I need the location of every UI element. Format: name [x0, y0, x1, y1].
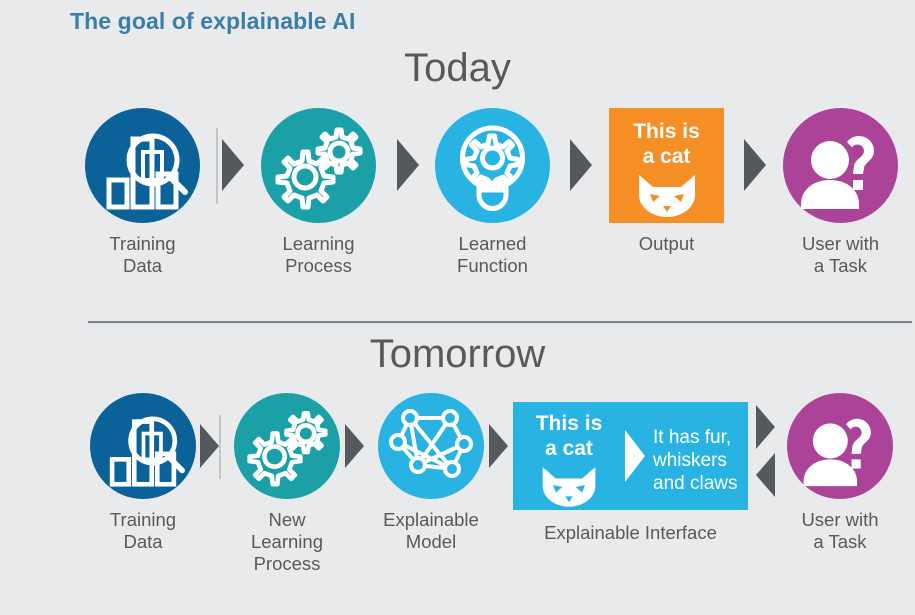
- node-user-task-tomorrow[interactable]: User with a Task: [787, 393, 893, 553]
- node-explainable-interface[interactable]: This is a cat It has: [513, 402, 748, 544]
- training-data-circle: [85, 108, 200, 223]
- section-divider: [88, 321, 912, 323]
- node-caption: Learning Process: [261, 233, 376, 277]
- user-task-circle: [787, 393, 893, 499]
- node-learning-process-today[interactable]: Learning Process: [261, 108, 376, 277]
- bar-chart-magnifier-icon: [90, 393, 196, 499]
- node-caption: Training Data: [90, 509, 196, 553]
- node-caption: Explainable Interface: [513, 522, 748, 544]
- interface-inner-arrow-icon: [625, 430, 645, 482]
- cat-face-icon: [633, 171, 701, 219]
- divider-line-2: [219, 415, 221, 479]
- user-task-circle: [783, 108, 898, 223]
- flow-arrow-8-back: [756, 453, 775, 497]
- flow-arrow-6: [345, 424, 364, 468]
- output-panel: This is a cat: [609, 108, 724, 223]
- tomorrow-row: Training Data New Learning Process: [0, 393, 915, 593]
- node-user-task-today[interactable]: User with a Task: [783, 108, 898, 277]
- node-caption: New Learning Process: [234, 509, 340, 575]
- node-explainable-model[interactable]: Explainable Model: [378, 393, 484, 553]
- user-question-icon: [783, 108, 898, 223]
- user-question-icon: [787, 393, 893, 499]
- node-caption: Training Data: [85, 233, 200, 277]
- flow-arrow-1: [222, 139, 244, 191]
- flow-arrow-2: [397, 139, 419, 191]
- divider-line-1: [216, 128, 218, 204]
- flow-arrow-3: [570, 139, 592, 191]
- output-panel-text: This is a cat: [609, 108, 724, 169]
- section-heading-tomorrow: Tomorrow: [0, 332, 915, 377]
- bar-chart-magnifier-icon: [85, 108, 200, 223]
- interface-explanation-text: It has fur, whiskers and claws: [645, 402, 738, 495]
- node-training-data-today[interactable]: Training Data: [85, 108, 200, 277]
- node-caption: Learned Function: [435, 233, 550, 277]
- today-row: Training Data Learning Process: [0, 108, 915, 308]
- network-graph-icon: [378, 393, 484, 499]
- explainable-model-circle: [378, 393, 484, 499]
- section-heading-today: Today: [0, 46, 915, 91]
- interface-panel-text: This is a cat: [513, 411, 625, 461]
- node-training-data-tomorrow[interactable]: Training Data: [90, 393, 196, 553]
- learning-process-circle: [261, 108, 376, 223]
- learned-function-circle: [435, 108, 550, 223]
- flow-arrow-5: [200, 424, 219, 468]
- node-output-today[interactable]: This is a cat Output: [609, 108, 724, 255]
- node-new-learning-process[interactable]: New Learning Process: [234, 393, 340, 575]
- gears-icon: [234, 393, 340, 499]
- node-caption: User with a Task: [783, 233, 898, 277]
- cat-face-icon: [537, 463, 601, 509]
- training-data-circle: [90, 393, 196, 499]
- page-title: The goal of explainable AI: [70, 8, 355, 35]
- node-learned-function-today[interactable]: Learned Function: [435, 108, 550, 277]
- explainable-interface-panel: This is a cat It has: [513, 402, 748, 510]
- new-learning-process-circle: [234, 393, 340, 499]
- explainable-ai-diagram: The goal of explainable AI Today: [0, 0, 915, 615]
- flow-arrow-7: [489, 424, 508, 468]
- node-caption: User with a Task: [787, 509, 893, 553]
- flow-arrow-4: [744, 139, 766, 191]
- node-caption: Output: [609, 233, 724, 255]
- gears-icon: [261, 108, 376, 223]
- lightbulb-gear-icon: [435, 108, 550, 223]
- flow-arrow-8-forward: [756, 405, 775, 449]
- node-caption: Explainable Model: [378, 509, 484, 553]
